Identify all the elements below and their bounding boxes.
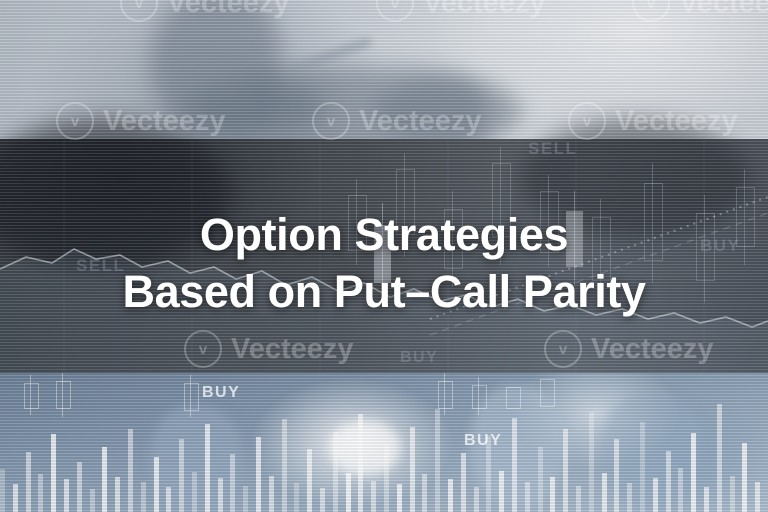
page-title: Option Strategies Based on Put–Call Pari… bbox=[0, 206, 768, 320]
trade-signal-label: BUY bbox=[464, 432, 502, 450]
trade-signal-label: SELL bbox=[528, 139, 577, 159]
banner-image: vVecteezyvVecteezyvVecteezyvVecteezyvVec… bbox=[0, 0, 768, 512]
trade-signal-label: BUY bbox=[400, 349, 438, 367]
trade-signal-label: BUY bbox=[202, 384, 240, 402]
